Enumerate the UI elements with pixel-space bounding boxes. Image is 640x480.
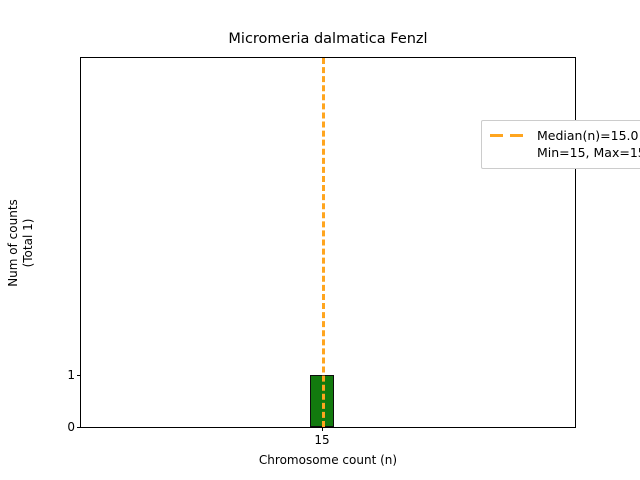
x-tick-label-15: 15 (314, 434, 329, 446)
y-axis-title-line1: Num of counts (6, 199, 20, 287)
y-tick-label-0: 0 (67, 421, 75, 433)
y-tick-label-1: 1 (67, 369, 75, 381)
legend-entry-label: Median(n)=15.0 Min=15, Max=15 (537, 127, 640, 161)
x-axis-title: Chromosome count (n) (80, 453, 576, 467)
y-axis-title-line2: (Total 1) (21, 199, 36, 287)
dashed-line-icon (490, 130, 528, 142)
median-reference-line (322, 58, 325, 427)
legend-entry-median: Median(n)=15.0 Min=15, Max=15 (490, 127, 640, 161)
legend-median-text: Median(n)=15.0 (537, 128, 638, 143)
chart-figure: Micromeria dalmatica Fenzl Num of counts… (0, 0, 640, 480)
y-tick-mark-0 (77, 427, 81, 428)
bar-series (81, 58, 575, 427)
x-tick-mark-15 (322, 427, 323, 431)
chart-legend: Median(n)=15.0 Min=15, Max=15 (481, 120, 640, 169)
legend-minmax-text: Min=15, Max=15 (537, 144, 640, 161)
plot-area: 0 1 15 Median(n)=15.0 Min=15, Max=15 (80, 57, 576, 428)
chart-title: Micromeria dalmatica Fenzl (80, 30, 576, 48)
y-axis-title: Num of counts (Total 1) (6, 199, 36, 287)
y-axis-title-container: Num of counts (Total 1) (0, 57, 42, 428)
